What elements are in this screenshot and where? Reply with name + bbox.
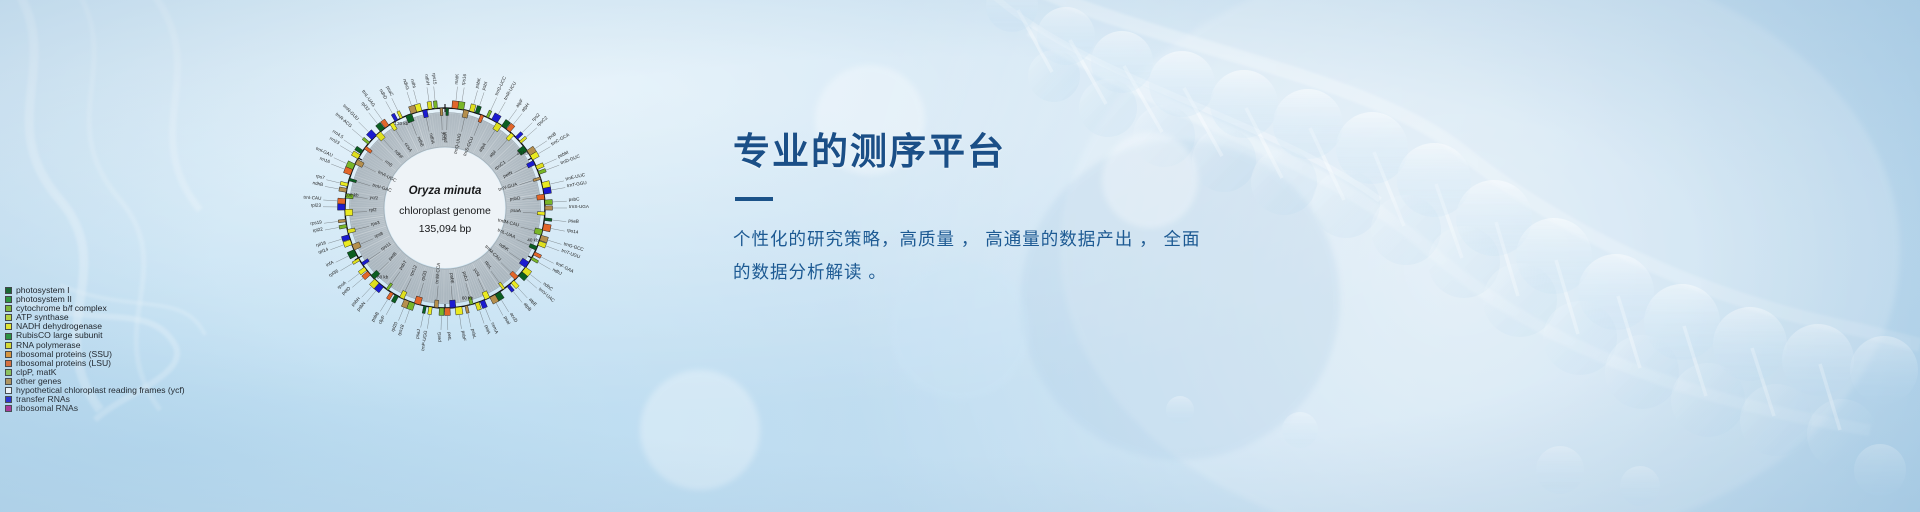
legend-color-swatch <box>5 296 12 303</box>
gene-feature-block <box>536 163 545 170</box>
gene-label: ycf2 <box>369 195 378 201</box>
legend-color-swatch <box>5 387 12 394</box>
legend-color-swatch <box>5 342 12 349</box>
gene-feature-block <box>338 204 346 210</box>
gene-label: trnV-UAC <box>538 287 556 304</box>
genome-subtitle: chloroplast genome <box>399 205 491 217</box>
genome-species-name: Oryza minuta <box>409 185 482 197</box>
legend-color-swatch <box>5 323 12 330</box>
gene-label: cemA <box>490 322 499 336</box>
gene-feature-block <box>446 108 449 116</box>
gene-feature-block <box>545 199 553 204</box>
gene-label: trnT-GGU <box>567 180 587 188</box>
gene-label: ndhB <box>312 180 323 187</box>
gene-label: ndhH <box>424 74 431 86</box>
gene-feature-block <box>339 187 347 192</box>
kb-tick-label: 120 kb <box>394 121 408 126</box>
kb-tick-label: 80 kb <box>377 274 389 279</box>
genome-legend: photosystem Iphotosystem IIcytochrome b/… <box>5 286 185 413</box>
kb-tick-label: 100 kb <box>345 193 359 198</box>
gene-label: infA <box>325 259 335 267</box>
gene-feature-block <box>533 252 541 258</box>
gene-label: rpl22 <box>312 226 323 233</box>
gene-label: rps18 <box>397 323 406 336</box>
gene-feature-block <box>475 302 481 310</box>
gene-feature-block <box>422 306 426 314</box>
gene-label: trnR-UCU <box>503 81 517 101</box>
gene-label: psbL <box>470 328 477 339</box>
gene-feature-block <box>492 113 502 123</box>
legend-color-swatch <box>5 305 12 312</box>
legend-color-swatch <box>5 351 12 358</box>
legend-color-swatch <box>5 360 12 367</box>
gene-feature-block <box>486 110 492 118</box>
gene-feature-block <box>445 308 451 316</box>
page-title: 专业的测序平台 <box>733 132 1433 173</box>
gene-feature-block <box>340 181 348 186</box>
gene-label: rrn16 <box>319 156 331 165</box>
gene-feature-block <box>538 169 546 175</box>
gene-label: trnP-UGG <box>420 330 428 351</box>
gene-label: rps14 <box>567 228 580 235</box>
gene-feature-block <box>339 224 347 229</box>
gene-feature-block <box>515 132 523 140</box>
gene-label: rpl2 <box>369 207 377 212</box>
gene-feature-block <box>440 108 443 116</box>
gene-feature-block <box>338 219 346 223</box>
gene-feature-block <box>439 308 444 316</box>
gene-feature-block <box>455 307 463 315</box>
genome-size: 135,094 bp <box>419 223 472 235</box>
gene-label: rps15 <box>432 73 438 85</box>
gene-label: petL <box>447 332 452 341</box>
legend-item-label: ribosomal RNAs <box>16 404 78 413</box>
gene-feature-block <box>469 104 476 113</box>
gene-feature-block <box>347 250 357 259</box>
kb-tick-label: 40 kb <box>527 237 539 242</box>
gene-label: ndhJ <box>552 267 563 276</box>
gene-label: psbE <box>449 273 455 284</box>
gene-feature-block <box>465 305 469 313</box>
gene-label: psbF <box>461 330 467 341</box>
banner-subcopy: 个性化的研究策略，高质量 ， 高通量的数据产出 ， 全面 的数据分析解读 。 <box>733 223 1263 289</box>
gene-feature-block <box>531 257 539 263</box>
gene-label: trnI-GAU <box>315 146 334 158</box>
gene-label: trnI-CAU <box>303 195 321 201</box>
gene-feature-block <box>458 101 465 109</box>
gene-label: clpP <box>377 315 386 325</box>
banner-copy: 专业的测序平台 个性化的研究策略，高质量 ， 高通量的数据产出 ， 全面 的数据… <box>733 132 1433 289</box>
kb-tick-label: 20 kb <box>517 151 529 156</box>
gene-label: rpl23 <box>311 203 322 208</box>
gene-feature-block <box>537 194 545 200</box>
legend-color-swatch <box>5 333 12 340</box>
gene-label: ndhG <box>402 78 410 91</box>
gene-label: rps7 <box>315 173 325 180</box>
gene-feature-block <box>338 198 346 204</box>
gene-label: rps16 <box>461 73 468 86</box>
gene-label: psbC <box>569 196 581 202</box>
subcopy-line-2: 的数据分析解读 。 <box>733 256 1263 289</box>
legend-color-swatch <box>5 396 12 403</box>
gene-label: ycf1 <box>441 132 446 141</box>
legend-color-swatch <box>5 405 12 412</box>
gene-feature-block <box>480 300 487 309</box>
legend-color-swatch <box>5 314 12 321</box>
gene-label: ndhI <box>410 78 417 88</box>
gene-feature-block <box>434 300 438 308</box>
legend-color-swatch <box>5 287 12 294</box>
gene-feature-block <box>345 209 353 216</box>
legend-color-swatch <box>5 378 12 385</box>
gene-feature-block <box>427 101 432 109</box>
kb-tick-label: 60 kb <box>462 295 474 300</box>
gene-feature-block <box>362 137 370 144</box>
gene-label: rpl36 <box>328 268 340 278</box>
gene-label: rps19 <box>310 219 322 225</box>
gene-feature-block <box>386 292 393 300</box>
gene-feature-block <box>428 307 432 315</box>
gene-label: psaB <box>568 218 579 224</box>
gene-label: trnS-UGA <box>569 204 590 209</box>
gene-feature-block <box>433 101 437 109</box>
gene-label: petA <box>484 324 492 335</box>
gene-label: psbI <box>481 81 489 91</box>
gene-label: psaI <box>503 315 512 325</box>
gene-feature-block <box>543 224 552 232</box>
legend-color-swatch <box>5 369 12 376</box>
gene-feature-block <box>545 206 553 210</box>
gene-feature-block <box>391 295 398 304</box>
gene-label: psaJ <box>414 329 421 340</box>
gene-feature-block <box>519 136 526 143</box>
legend-item: ribosomal RNAs <box>5 404 185 413</box>
gene-feature-block <box>475 105 481 113</box>
subcopy-line-1: 个性化的研究策略，高质量 ， 高通量的数据产出 ， 全面 <box>733 223 1263 256</box>
gene-label: psaA <box>510 208 522 214</box>
gene-label: petG <box>437 331 442 342</box>
hero-banner: psbAmatKrps16trnQ-UUGpsbKpsbItrnS-GCUtrn… <box>0 0 1920 512</box>
gene-feature-block <box>544 218 552 222</box>
gene-feature-block <box>397 111 403 119</box>
chloroplast-genome-map: psbAmatKrps16trnQ-UUGpsbKpsbItrnS-GCUtrn… <box>245 8 645 408</box>
gene-label: matK <box>454 73 460 85</box>
gene-label: rpl14 <box>318 247 330 255</box>
gene-feature-block <box>450 300 456 308</box>
gene-feature-block <box>543 187 551 194</box>
genome-map-svg: psbAmatKrps16trnQ-UUGpsbKpsbItrnS-GCUtrn… <box>245 8 645 408</box>
title-underline-rule <box>735 197 773 201</box>
gene-feature-block <box>537 212 545 216</box>
